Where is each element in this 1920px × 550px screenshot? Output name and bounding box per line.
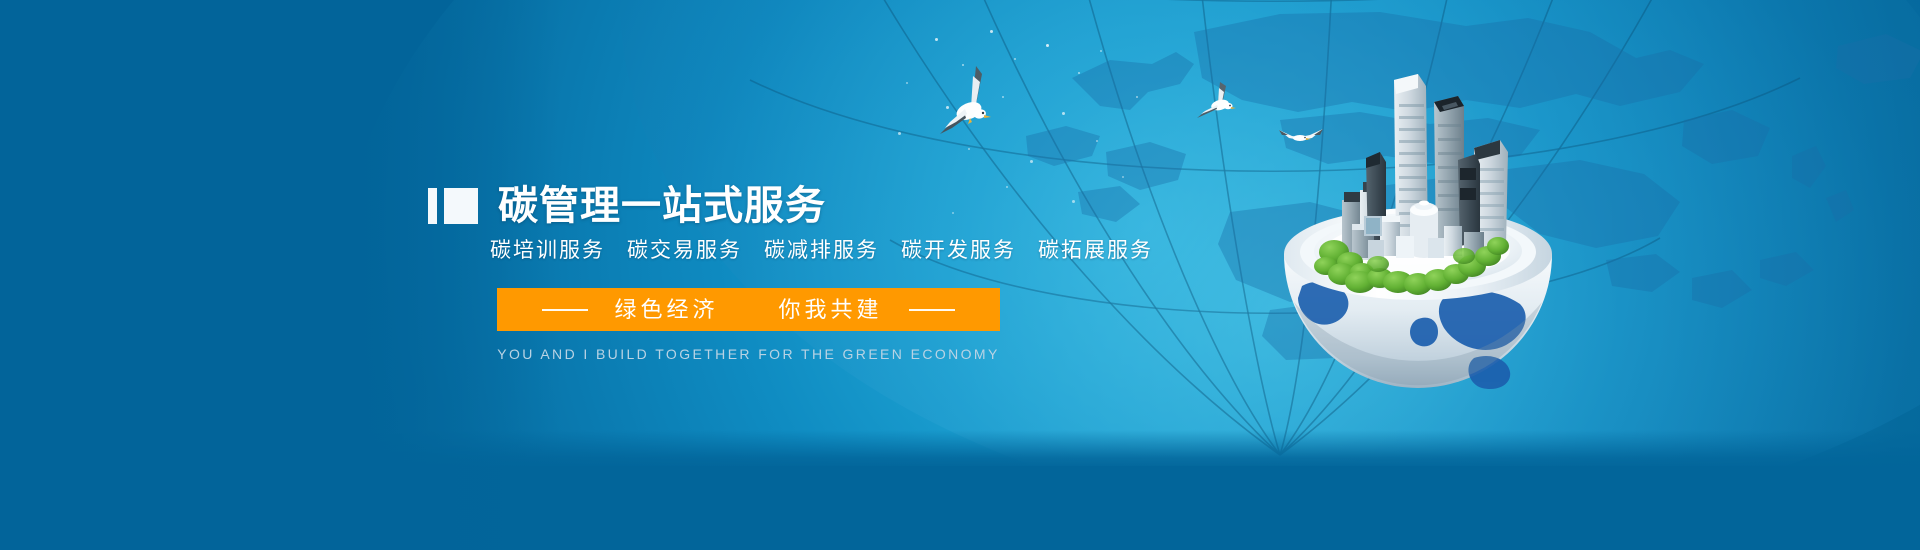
slogan-text-primary: 绿色经济 <box>614 299 718 321</box>
slogan-dash-left-icon <box>542 309 588 311</box>
services-row: 碳培训服务 碳交易服务 碳减排服务 碳开发服务 碳拓展服务 <box>490 240 1153 261</box>
slogan-bar: 绿色经济 你我共建 <box>497 288 1000 331</box>
service-item-carbon-expansion: 碳拓展服务 <box>1038 240 1153 261</box>
carbon-management-banner: 碳管理一站式服务 碳培训服务 碳交易服务 碳减排服务 碳开发服务 碳拓展服务 绿… <box>0 0 1920 550</box>
service-item-carbon-training: 碳培训服务 <box>490 240 605 261</box>
service-item-carbon-trading: 碳交易服务 <box>627 240 742 261</box>
service-item-carbon-development: 碳开发服务 <box>901 240 1016 261</box>
tagline: YOU AND I BUILD TOGETHER FOR THE GREEN E… <box>497 347 1000 361</box>
slogan-text-secondary: 你我共建 <box>779 299 883 321</box>
bar-square-mark-icon <box>428 188 478 224</box>
mark-bar-icon <box>428 188 437 224</box>
slogan-dash-right-icon <box>909 309 955 311</box>
headline-row: 碳管理一站式服务 <box>428 186 826 226</box>
mark-square-icon <box>444 188 478 224</box>
banner-content: 碳管理一站式服务 碳培训服务 碳交易服务 碳减排服务 碳开发服务 碳拓展服务 绿… <box>0 0 1920 550</box>
page-title: 碳管理一站式服务 <box>498 186 826 226</box>
service-item-carbon-reduction: 碳减排服务 <box>764 240 879 261</box>
